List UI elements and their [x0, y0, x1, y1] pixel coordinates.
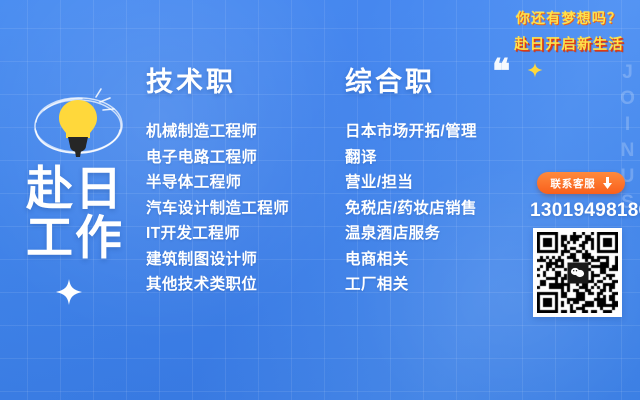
list-item: 免税店/药妆店销售	[345, 196, 477, 222]
job-list-technical: 机械制造工程师 电子电路工程师 半导体工程师 汽车设计制造工程师 IT开发工程师…	[146, 119, 289, 298]
list-item: 工厂相关	[345, 272, 477, 298]
headline-line-2: 赴日开启新生活	[514, 33, 624, 54]
list-item: 建筑制图设计师	[146, 247, 289, 273]
job-column-technical: 技术职 机械制造工程师 电子电路工程师 半导体工程师 汽车设计制造工程师 IT开…	[146, 60, 289, 298]
job-column-general: 综合职 日本市场开拓/管理 翻译 营业/担当 免税店/药妆店销售 温泉酒店服务 …	[345, 60, 477, 298]
list-item: 电商相关	[345, 247, 477, 273]
column-heading-technical: 技术职	[146, 60, 289, 99]
sparkle-star-icon	[55, 278, 83, 306]
qr-code[interactable]	[533, 228, 622, 317]
list-item: 营业/担当	[345, 170, 477, 196]
list-item: 汽车设计制造工程师	[146, 196, 289, 222]
headline: 你还有梦想吗？ 赴日开启新生活	[514, 8, 624, 54]
phone-number: 13019498186	[530, 200, 634, 222]
qr-code-center-logo	[567, 262, 588, 283]
list-item: IT开发工程师	[146, 221, 289, 247]
lightbulb-icon	[24, 84, 132, 166]
join-us-vertical-text: JOINUS	[616, 62, 638, 218]
list-item: 电子电路工程师	[146, 145, 289, 171]
quote-mark-icon: ❝	[492, 58, 510, 86]
list-item: 半导体工程师	[146, 170, 289, 196]
job-list-general: 日本市场开拓/管理 翻译 营业/担当 免税店/药妆店销售 温泉酒店服务 电商相关…	[345, 119, 477, 298]
list-item: 机械制造工程师	[146, 119, 289, 145]
list-item: 日本市场开拓/管理	[345, 119, 477, 145]
sparkle-star-icon	[527, 62, 543, 78]
page-title: 赴日 工作	[26, 164, 146, 262]
column-heading-general: 综合职	[345, 60, 477, 99]
promo-banner: 赴日 工作 技术职 机械制造工程师 电子电路工程师 半导体工程师 汽车设计制造工…	[0, 0, 640, 400]
page-title-line-1: 赴日	[26, 164, 146, 213]
headline-line-1: 你还有梦想吗？	[514, 8, 624, 28]
contact-service-button-label: 联系客服	[550, 176, 595, 191]
arrow-down-icon	[603, 177, 612, 189]
contact-service-button[interactable]: 联系客服	[537, 172, 625, 194]
list-item: 其他技术类职位	[146, 272, 289, 298]
list-item: 翻译	[345, 145, 477, 171]
list-item: 温泉酒店服务	[345, 221, 477, 247]
page-title-line-2: 工作	[26, 213, 146, 262]
